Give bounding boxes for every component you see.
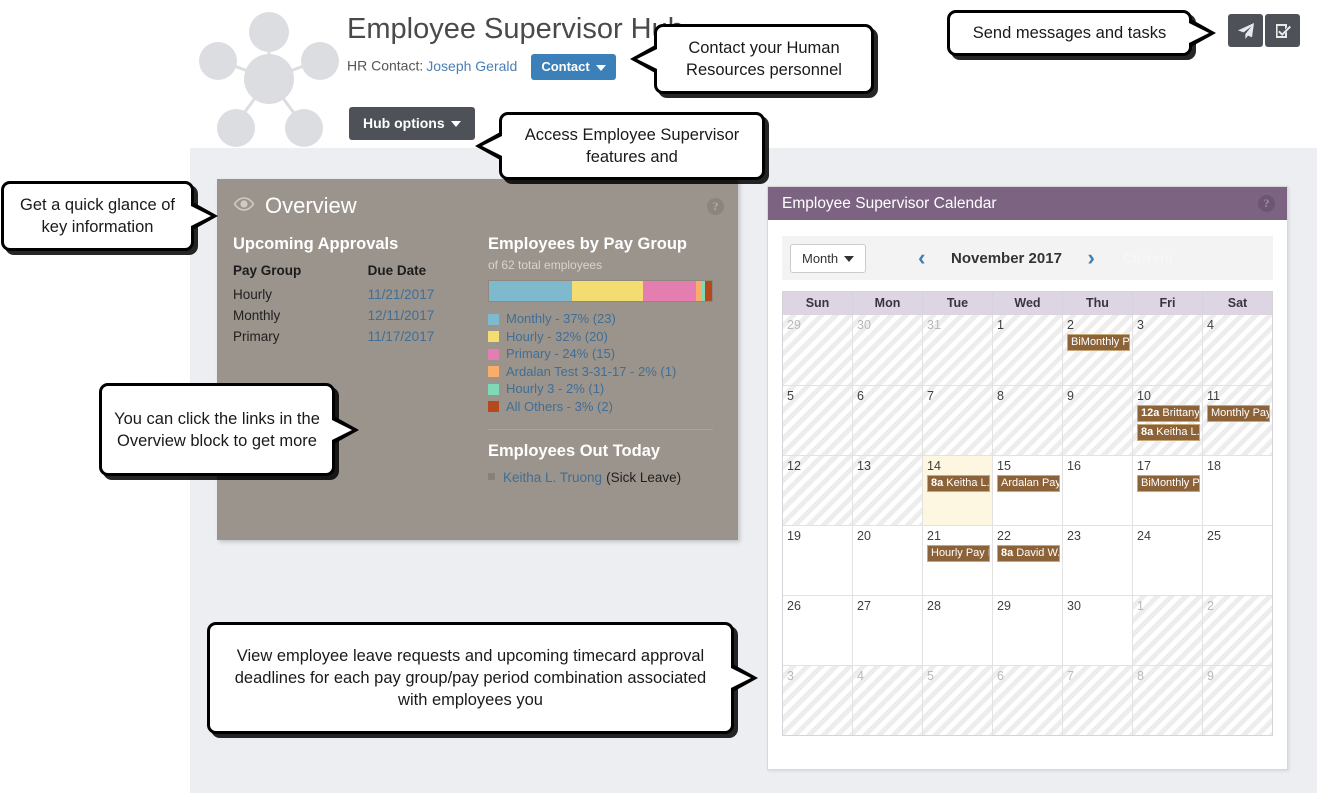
calendar-event[interactable]: 8a Keitha L. T [1137, 424, 1200, 441]
calendar-day-number: 10 [1137, 389, 1202, 403]
callout-quick-glance: Get a quick glance of key information [1, 181, 194, 251]
calendar-day-number: 11 [1207, 389, 1272, 403]
pay-group-title: Employees by Pay Group [488, 235, 722, 254]
calendar-day-number: 29 [997, 599, 1062, 613]
bar-segment [705, 281, 712, 301]
calendar-day-cell[interactable]: 148a Keitha L. T [923, 455, 993, 525]
send-message-button[interactable] [1228, 14, 1263, 47]
eye-icon [233, 197, 255, 216]
legend-item[interactable]: Hourly - 32% (20) [488, 329, 722, 346]
legend-swatch [488, 314, 499, 325]
contact-button[interactable]: Contact [531, 54, 615, 80]
bar-segment [643, 281, 697, 301]
calendar-day-cell[interactable]: 2 [1203, 595, 1272, 665]
callout-view-leave-requests: View employee leave requests and upcomin… [207, 622, 734, 734]
calendar-view-value: Month [802, 251, 838, 266]
calendar-day-number: 6 [997, 669, 1062, 683]
calendar-day-cell[interactable]: 29 [993, 595, 1063, 665]
calendar-day-number: 23 [1067, 529, 1132, 543]
calendar-week-row: 192021Hourly Pay P228a David W. S232425 [783, 525, 1272, 595]
calendar-day-cell[interactable]: 27 [853, 595, 923, 665]
calendar-day-cell[interactable]: 20 [853, 525, 923, 595]
calendar-day-number: 7 [927, 389, 992, 403]
calendar-day-number: 30 [1067, 599, 1132, 613]
calendar-day-number: 3 [787, 669, 852, 683]
calendar-day-cell[interactable]: 9 [1063, 385, 1133, 455]
contact-button-label: Contact [541, 59, 589, 74]
calendar-weekday-wed: Wed [993, 292, 1063, 315]
legend-swatch [488, 401, 499, 412]
calendar-day-number: 5 [787, 389, 852, 403]
column-header-due-date: Due Date [326, 263, 473, 284]
calendar-day-cell[interactable]: 30 [853, 315, 923, 385]
calendar-day-cell[interactable]: 29 [783, 315, 853, 385]
calendar-grid: SunMonTueWedThuFriSat 29303112BiMonthly … [782, 291, 1273, 736]
callout-tail-inner [482, 136, 502, 156]
cell-pay-group: Hourly [233, 284, 326, 305]
table-row: Monthly 12/11/2017 [233, 305, 473, 326]
upcoming-approvals-title: Upcoming Approvals [233, 235, 473, 254]
column-header-pay-group: Pay Group [233, 263, 326, 284]
calendar-day-cell[interactable]: 6 [853, 385, 923, 455]
calendar-day-cell[interactable]: 13 [853, 455, 923, 525]
calendar-toolbar: Month ‹ November 2017 › Current [782, 236, 1273, 280]
calendar-event-time: 8a [931, 477, 946, 489]
calendar-day-cell[interactable]: 16 [1063, 455, 1133, 525]
calendar-day-number: 14 [927, 459, 992, 473]
calendar-weekday-mon: Mon [853, 292, 923, 315]
employees-out-today-title: Employees Out Today [488, 442, 722, 461]
calendar-day-number: 1 [997, 318, 1062, 332]
calendar-day-cell[interactable]: 23 [1063, 525, 1133, 595]
legend-label: Hourly - 32% (20) [506, 329, 608, 346]
cell-due-date[interactable]: 12/11/2017 [326, 305, 473, 326]
calendar-weekday-sun: Sun [783, 292, 853, 315]
calendar-event-title: Hourly Pay P [931, 547, 990, 559]
calendar-day-cell[interactable]: 1 [993, 315, 1063, 385]
calendar-day-cell[interactable]: 15Ardalan Pay P [993, 455, 1063, 525]
callout-text: Access Employee Supervisor features and [514, 124, 750, 168]
calendar-header: Employee Supervisor Calendar ? [768, 187, 1287, 220]
calendar-event-title: Keitha L. T [946, 477, 990, 489]
legend-swatch [488, 349, 499, 360]
calendar-day-cell[interactable]: 3 [783, 665, 853, 735]
employees-out-today-list: Keitha L. Truong(Sick Leave) [488, 470, 722, 485]
bullet-icon [488, 473, 495, 480]
calendar-day-cell[interactable]: 4 [853, 665, 923, 735]
calendar-day-cell[interactable]: 12 [783, 455, 853, 525]
calendar-day-cell[interactable]: 7 [923, 385, 993, 455]
calendar-day-number: 27 [857, 599, 922, 613]
calendar-day-cell[interactable]: 8 [1133, 665, 1203, 735]
callout-text: View employee leave requests and upcomin… [222, 645, 719, 711]
calendar-day-number: 2 [1207, 599, 1272, 613]
calendar-event-title: BiMonthly Pa [1141, 477, 1200, 489]
legend-swatch [488, 366, 499, 377]
callout-tail-inner [332, 420, 352, 440]
calendar-day-number: 30 [857, 318, 922, 332]
calendar-day-number: 1 [1137, 599, 1202, 613]
leave-reason: (Sick Leave) [606, 470, 681, 485]
calendar-day-number: 21 [927, 529, 992, 543]
calendar-day-number: 17 [1137, 459, 1202, 473]
callout-text: Contact your Human Resources personnel [669, 37, 859, 81]
calendar-day-number: 19 [787, 529, 852, 543]
calendar-week-row: 262728293012 [783, 595, 1272, 665]
calendar-weekday-tue: Tue [923, 292, 993, 315]
calendar-weekday-sat: Sat [1203, 292, 1272, 315]
callout-text: Get a quick glance of key information [16, 194, 179, 238]
legend-label: Primary - 24% (15) [506, 346, 615, 363]
calendar-nav-group: ‹ November 2017 › Current [912, 247, 1173, 269]
cell-pay-group: Primary [233, 326, 326, 347]
calendar-day-number: 28 [927, 599, 992, 613]
calendar-day-number: 15 [997, 459, 1062, 473]
calendar-day-number: 6 [857, 389, 922, 403]
calendar-day-number: 7 [1067, 669, 1132, 683]
current-date-button[interactable]: Current [1123, 250, 1174, 266]
cell-due-date[interactable]: 11/17/2017 [326, 326, 473, 347]
top-actions-group [1228, 14, 1300, 47]
calendar-day-number: 13 [857, 459, 922, 473]
calendar-day-cell[interactable]: 25 [1203, 525, 1272, 595]
overview-title: Overview [265, 193, 357, 219]
calendar-week-row: 29303112BiMonthly Pa34 [783, 315, 1272, 385]
calendar-day-cell[interactable]: 8 [993, 385, 1063, 455]
calendar-event[interactable]: 8a David W. S [997, 545, 1060, 562]
calendar-event[interactable]: Ardalan Pay P [997, 475, 1060, 492]
approvals-table: Pay Group Due Date Hourly 11/21/2017 Mon… [233, 263, 473, 347]
calendar-day-number: 20 [857, 529, 922, 543]
calendar-weeks: 29303112BiMonthly Pa34567891012a Brittan… [783, 315, 1272, 735]
calendar-day-cell[interactable]: 4 [1203, 315, 1272, 385]
legend-item[interactable]: Monthly - 37% (23) [488, 311, 722, 328]
legend-item[interactable]: All Others - 3% (2) [488, 399, 722, 416]
legend-swatch [488, 384, 499, 395]
callout-hub-options: Access Employee Supervisor features and [499, 112, 765, 180]
calendar-event[interactable]: 12a Brittany K [1137, 405, 1200, 422]
calendar-day-number: 12 [787, 459, 852, 473]
employees-by-pay-group-section: Employees by Pay Group of 62 total emplo… [473, 235, 722, 485]
calendar-day-number: 22 [997, 529, 1062, 543]
calendar-day-number: 25 [1207, 529, 1272, 543]
calendar-day-number: 29 [787, 318, 852, 332]
help-question-icon[interactable]: ? [707, 198, 724, 215]
calendar-day-cell[interactable]: 17BiMonthly Pa [1133, 455, 1203, 525]
calendar-day-cell[interactable]: 1 [1133, 595, 1203, 665]
calendar-day-number: 31 [927, 318, 992, 332]
hub-network-icon [196, 6, 342, 152]
legend-swatch [488, 331, 499, 342]
calendar-day-cell[interactable]: 18 [1203, 455, 1272, 525]
pay-group-subtitle: of 62 total employees [488, 258, 722, 272]
calendar-day-number: 18 [1207, 459, 1272, 473]
calendar-title: Employee Supervisor Calendar [782, 195, 997, 213]
calendar-weekday-fri: Fri [1133, 292, 1203, 315]
calendar-panel: Employee Supervisor Calendar ? Month ‹ N… [767, 186, 1288, 770]
cell-due-date[interactable]: 11/21/2017 [326, 284, 473, 305]
callout-text: You can click the links in the Overview … [114, 408, 320, 452]
calendar-event-title: BiMonthly Pa [1071, 336, 1130, 348]
create-task-button[interactable] [1265, 14, 1300, 47]
table-row: Hourly 11/21/2017 [233, 284, 473, 305]
calendar-weekday-thu: Thu [1063, 292, 1133, 315]
callout-contact-hr: Contact your Human Resources personnel [654, 24, 874, 94]
callout-tail-inner [637, 49, 657, 69]
calendar-day-cell[interactable]: 21Hourly Pay P [923, 525, 993, 595]
calendar-event-title: Monthly Pay [1211, 407, 1270, 419]
prev-month-button[interactable]: ‹ [912, 247, 931, 269]
callout-tail-inner [731, 668, 751, 688]
calendar-day-cell[interactable]: 5 [923, 665, 993, 735]
calendar-day-number: 3 [1137, 318, 1202, 332]
page-title: Employee Supervisor Hub [347, 12, 684, 46]
bar-segment [489, 281, 572, 301]
bar-segment [572, 281, 643, 301]
hr-contact-name-link[interactable]: Joseph Gerald [426, 58, 517, 74]
calendar-event-time: 8a [1001, 547, 1016, 559]
calendar-day-cell[interactable]: 9 [1203, 665, 1272, 735]
next-month-button[interactable]: › [1081, 247, 1100, 269]
calendar-day-cell[interactable]: 26 [783, 595, 853, 665]
calendar-week-row: 567891012a Brittany K8a Keitha L. T11Mon… [783, 385, 1272, 455]
calendar-view-select[interactable]: Month [790, 244, 866, 273]
calendar-day-number: 16 [1067, 459, 1132, 473]
calendar-day-cell[interactable]: 5 [783, 385, 853, 455]
calendar-day-number: 9 [1067, 389, 1132, 403]
help-question-icon[interactable]: ? [1258, 195, 1275, 212]
calendar-event[interactable]: Monthly Pay [1207, 405, 1270, 422]
overview-header: Overview ? [217, 179, 738, 219]
legend-item[interactable]: Ardalan Test 3-31-17 - 2% (1) [488, 364, 722, 381]
overview-panel: Overview ? Upcoming Approvals Pay Group … [217, 179, 738, 540]
table-header-row: Pay Group Due Date [233, 263, 473, 284]
callout-text: Send messages and tasks [973, 22, 1167, 44]
paper-plane-send-icon [1237, 22, 1255, 40]
callout-send-messages: Send messages and tasks [947, 10, 1192, 56]
calendar-event[interactable]: Hourly Pay P [927, 545, 990, 562]
calendar-day-cell[interactable]: 1012a Brittany K8a Keitha L. T [1133, 385, 1203, 455]
calendar-day-number: 4 [857, 669, 922, 683]
calendar-day-number: 5 [927, 669, 992, 683]
callout-overview-links: You can click the links in the Overview … [99, 383, 335, 476]
calendar-day-number: 2 [1067, 318, 1132, 332]
calendar-event-title: Brittany K [1162, 407, 1200, 419]
calendar-day-cell[interactable]: 3 [1133, 315, 1203, 385]
divider [488, 429, 713, 430]
calendar-event[interactable]: 8a Keitha L. T [927, 475, 990, 492]
calendar-day-number: 4 [1207, 318, 1272, 332]
pay-group-legend: Monthly - 37% (23)Hourly - 32% (20)Prima… [488, 311, 722, 415]
callout-tail-inner [1189, 23, 1209, 43]
calendar-day-cell[interactable]: 31 [923, 315, 993, 385]
legend-item[interactable]: Primary - 24% (15) [488, 346, 722, 363]
calendar-event-time: 12a [1141, 407, 1162, 419]
hr-contact-label: HR Contact: [347, 58, 423, 74]
chevron-down-icon [451, 121, 461, 127]
calendar-event[interactable]: BiMonthly Pa [1137, 475, 1200, 492]
pay-group-stacked-bar [488, 280, 713, 302]
calendar-day-cell[interactable]: 7 [1063, 665, 1133, 735]
legend-label: Monthly - 37% (23) [506, 311, 616, 328]
calendar-day-cell[interactable]: 2BiMonthly Pa [1063, 315, 1133, 385]
list-item: Keitha L. Truong(Sick Leave) [488, 470, 722, 485]
legend-label: All Others - 3% (2) [506, 399, 613, 416]
calendar-week-row: 1213148a Keitha L. T15Ardalan Pay P1617B… [783, 455, 1272, 525]
calendar-day-cell[interactable]: 28 [923, 595, 993, 665]
calendar-day-cell[interactable]: 30 [1063, 595, 1133, 665]
calendar-week-row: 3456789 [783, 665, 1272, 735]
calendar-event-title: Ardalan Pay P [1001, 477, 1060, 489]
hub-options-label: Hub options [363, 115, 445, 131]
checked-box-task-icon [1274, 22, 1292, 40]
calendar-day-cell[interactable]: 6 [993, 665, 1063, 735]
calendar-event-time: 8a [1141, 426, 1156, 438]
employee-name-link[interactable]: Keitha L. Truong [503, 470, 602, 485]
calendar-day-cell[interactable]: 228a David W. S [993, 525, 1063, 595]
hub-options-button[interactable]: Hub options [349, 107, 475, 140]
calendar-day-cell[interactable]: 19 [783, 525, 853, 595]
calendar-event-title: David W. S [1016, 547, 1060, 559]
calendar-month-label: November 2017 [931, 250, 1081, 267]
chevron-down-icon [596, 65, 606, 71]
calendar-day-number: 26 [787, 599, 852, 613]
legend-label: Ardalan Test 3-31-17 - 2% (1) [506, 364, 676, 381]
callout-tail-inner [191, 206, 211, 226]
calendar-event-title: Keitha L. T [1156, 426, 1200, 438]
calendar-weekday-row: SunMonTueWedThuFriSat [783, 292, 1272, 315]
calendar-day-number: 8 [997, 389, 1062, 403]
calendar-day-number: 8 [1137, 669, 1202, 683]
calendar-day-number: 9 [1207, 669, 1272, 683]
legend-item[interactable]: Hourly 3 - 2% (1) [488, 381, 722, 398]
calendar-day-cell[interactable]: 24 [1133, 525, 1203, 595]
legend-label: Hourly 3 - 2% (1) [506, 381, 604, 398]
calendar-day-number: 24 [1137, 529, 1202, 543]
calendar-event[interactable]: BiMonthly Pa [1067, 334, 1130, 351]
cell-pay-group: Monthly [233, 305, 326, 326]
calendar-day-cell[interactable]: 11Monthly Pay [1203, 385, 1272, 455]
chevron-down-icon [844, 256, 854, 262]
table-row: Primary 11/17/2017 [233, 326, 473, 347]
